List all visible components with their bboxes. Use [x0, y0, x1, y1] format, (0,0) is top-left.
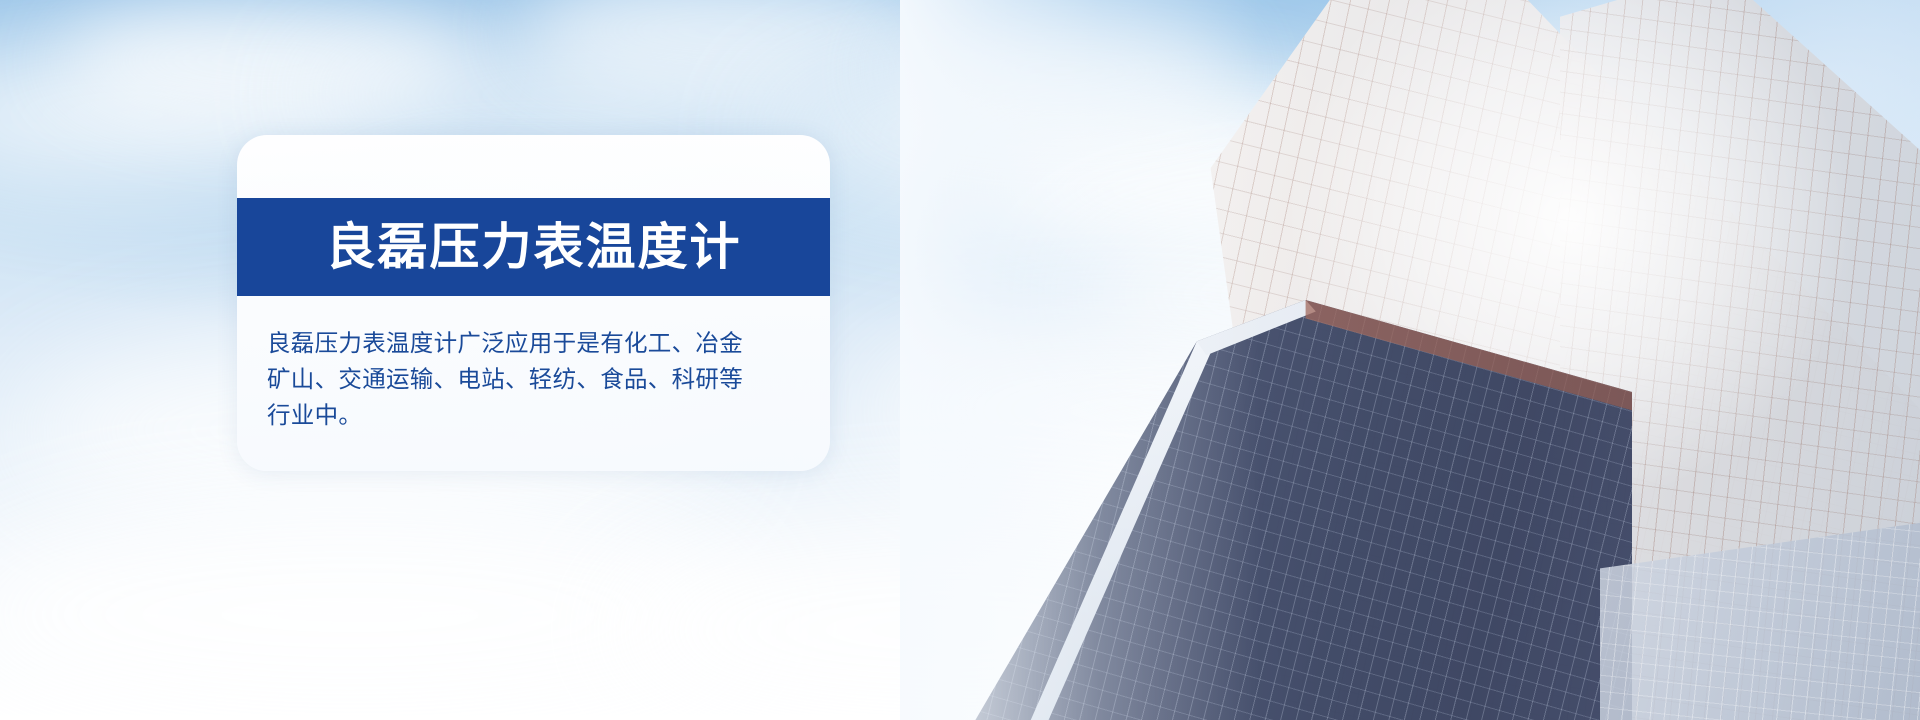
hero-banner: 良磊压力表温度计 良磊压力表温度计广泛应用于是有化工、冶金 矿山、交通运输、电站…: [0, 0, 1920, 720]
description-line: 行业中。: [267, 397, 807, 433]
description-line: 良磊压力表温度计广泛应用于是有化工、冶金: [267, 325, 807, 361]
title-bar: 良磊压力表温度计: [237, 198, 830, 296]
description-line: 矿山、交通运输、电站、轻纺、食品、科研等: [267, 361, 807, 397]
description-block: 良磊压力表温度计广泛应用于是有化工、冶金 矿山、交通运输、电站、轻纺、食品、科研…: [267, 325, 807, 433]
promo-card: 良磊压力表温度计 良磊压力表温度计广泛应用于是有化工、冶金 矿山、交通运输、电站…: [237, 135, 830, 471]
page-title: 良磊压力表温度计: [326, 222, 742, 272]
